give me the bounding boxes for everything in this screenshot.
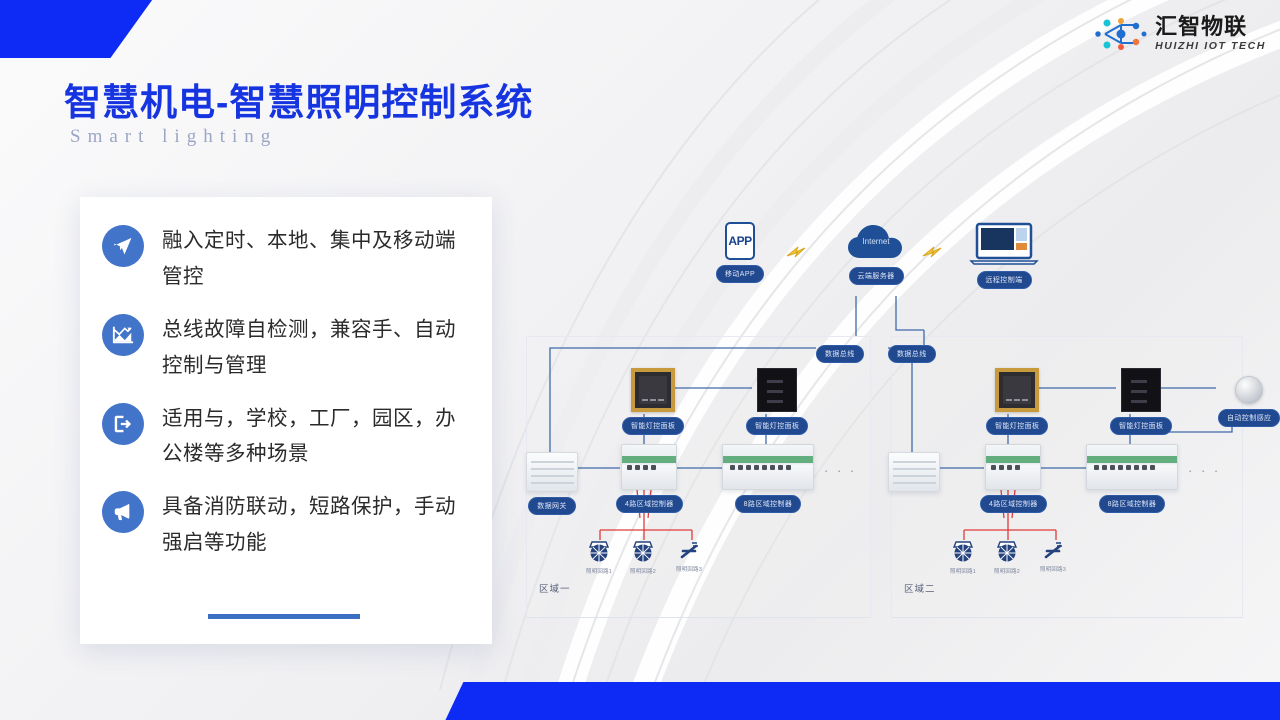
slide-canvas: 汇智物联 HUIZHI IOT TECH 智慧机电-智慧照明控制系统 Smart…: [0, 0, 1280, 720]
node-gateway-zone-2[interactable]: [888, 452, 940, 492]
node-cloud-server[interactable]: Internet 云端服务器: [845, 220, 907, 285]
more-controllers-ellipsis-2: · · ·: [1188, 463, 1221, 478]
node-gateway-zone-1[interactable]: 数据网关: [526, 452, 578, 515]
more-controllers-ellipsis-1: · · ·: [824, 463, 857, 478]
ceiling-lamp-icon: [586, 540, 612, 564]
node-controller-8ch-zone-2[interactable]: 8路区域控制器: [1086, 444, 1178, 513]
din-rail-controller-icon: [1086, 444, 1178, 490]
wireless-bolt-icon: [920, 244, 950, 260]
node-label-remote-client: 远程控制端: [977, 271, 1032, 289]
node-light-panel-1b[interactable]: 智能灯控面板: [746, 368, 808, 435]
molecule-network-icon: [1094, 14, 1148, 54]
brand-name-cn: 汇智物联: [1155, 16, 1266, 38]
circuit-label: 照明回路1: [586, 567, 612, 575]
zone-label: 区域一: [539, 581, 571, 595]
feature-text: 适用与，学校，工厂，园区，办公楼等多种场景: [162, 401, 470, 473]
bus-label-2: 数据总线: [888, 345, 936, 363]
feature-card: 融入定时、本地、集中及移动端管控 总线故障自检测，兼容手、自动控制与管理 适用与…: [80, 197, 492, 644]
feature-text: 具备消防联动，短路保护，手动强启等功能: [162, 489, 470, 561]
laptop-icon: [969, 222, 1039, 266]
node-label-auto-sensor: 自动控制感应: [1218, 409, 1280, 427]
circuit-label: 照明回路2: [994, 567, 1020, 575]
node-label-gateway-1: 数据网关: [528, 497, 576, 515]
node-label-controller-8ch-2: 8路区域控制器: [1099, 495, 1166, 513]
node-label-controller-8ch-1: 8路区域控制器: [735, 495, 802, 513]
node-label-controller-4ch-1: 4路区域控制器: [616, 495, 683, 513]
circuit-label: 照明回路2: [630, 567, 656, 575]
app-badge-label: APP: [728, 234, 751, 248]
gateway-device-icon: [888, 452, 940, 492]
brand-logo: 汇智物联 HUIZHI IOT TECH: [1094, 14, 1266, 54]
node-label-panel-1b: 智能灯控面板: [746, 417, 808, 435]
page-title: 智慧机电-智慧照明控制系统: [64, 72, 533, 126]
cloud-icon: Internet: [845, 220, 907, 262]
feature-item: 适用与，学校，工厂，园区，办公楼等多种场景: [102, 401, 470, 473]
gold-wall-panel-icon: [631, 368, 675, 412]
node-mobile-app[interactable]: APP 移动APP: [716, 222, 764, 283]
feature-item: 融入定时、本地、集中及移动端管控: [102, 223, 470, 295]
circuit-label: 照明回路3: [676, 565, 702, 573]
node-auto-sensor[interactable]: 自动控制感应: [1218, 376, 1280, 427]
gold-wall-panel-icon: [995, 368, 1039, 412]
paper-plane-icon: [102, 225, 144, 267]
circuit-label: 照明回路1: [950, 567, 976, 575]
sensor-knob-icon: [1235, 376, 1263, 404]
system-architecture-diagram: 区域一 区域二: [516, 218, 1280, 618]
bus-label-1: 数据总线: [816, 345, 864, 363]
node-label-panel-2b: 智能灯控面板: [1110, 417, 1172, 435]
ceiling-lamp-icon: [630, 540, 656, 564]
node-remote-client[interactable]: 远程控制端: [969, 222, 1039, 289]
page-subtitle: Smart lighting: [70, 126, 277, 148]
zone-label: 区域二: [904, 581, 936, 595]
node-circuit-2-3[interactable]: 照明回路3: [1040, 540, 1066, 573]
exit-arrow-icon: [102, 403, 144, 445]
node-light-panel-2b[interactable]: 智能灯控面板: [1110, 368, 1172, 435]
node-label-controller-4ch-2: 4路区域控制器: [980, 495, 1047, 513]
wireless-bolt-icon: [784, 244, 814, 260]
brand-name-en: HUIZHI IOT TECH: [1155, 41, 1266, 52]
feature-text: 融入定时、本地、集中及移动端管控: [162, 223, 470, 295]
node-light-panel-2a[interactable]: 智能灯控面板: [986, 368, 1048, 435]
node-circuit-1-3[interactable]: 照明回路3: [676, 540, 702, 573]
node-light-panel-1a[interactable]: 智能灯控面板: [622, 368, 684, 435]
smartphone-icon: APP: [725, 222, 755, 260]
ceiling-lamp-icon: [994, 540, 1020, 564]
bottom-accent-bar: [0, 682, 1280, 720]
circuit-label: 照明回路3: [1040, 565, 1066, 573]
dark-wall-panel-icon: [1121, 368, 1161, 412]
top-left-accent-shape: [0, 0, 155, 58]
node-label-panel-1a: 智能灯控面板: [622, 417, 684, 435]
dark-wall-panel-icon: [757, 368, 797, 412]
node-circuit-2-2[interactable]: 照明回路2: [994, 540, 1020, 575]
cloud-badge-label: Internet: [862, 237, 890, 246]
node-controller-8ch-zone-1[interactable]: 8路区域控制器: [722, 444, 814, 513]
node-circuit-2-1[interactable]: 照明回路1: [950, 540, 976, 575]
feature-text: 总线故障自检测，兼容手、自动控制与管理: [162, 312, 470, 384]
ceiling-lamp-icon: [950, 540, 976, 564]
node-label-panel-2a: 智能灯控面板: [986, 417, 1048, 435]
light-strip-icon: [1041, 540, 1065, 562]
din-rail-controller-icon: [985, 444, 1041, 490]
gateway-device-icon: [526, 452, 578, 492]
din-rail-controller-icon: [621, 444, 677, 490]
card-underline-accent: [208, 614, 360, 619]
megaphone-icon: [102, 491, 144, 533]
feature-item: 具备消防联动，短路保护，手动强启等功能: [102, 489, 470, 561]
feature-item: 总线故障自检测，兼容手、自动控制与管理: [102, 312, 470, 384]
node-circuit-1-1[interactable]: 照明回路1: [586, 540, 612, 575]
node-circuit-1-2[interactable]: 照明回路2: [630, 540, 656, 575]
node-label-mobile-app: 移动APP: [716, 265, 764, 283]
node-controller-4ch-zone-1[interactable]: 4路区域控制器: [616, 444, 683, 513]
node-label-cloud-server: 云端服务器: [849, 267, 904, 285]
node-controller-4ch-zone-2[interactable]: 4路区域控制器: [980, 444, 1047, 513]
light-strip-icon: [677, 540, 701, 562]
din-rail-controller-icon: [722, 444, 814, 490]
trend-chart-icon: [102, 314, 144, 356]
